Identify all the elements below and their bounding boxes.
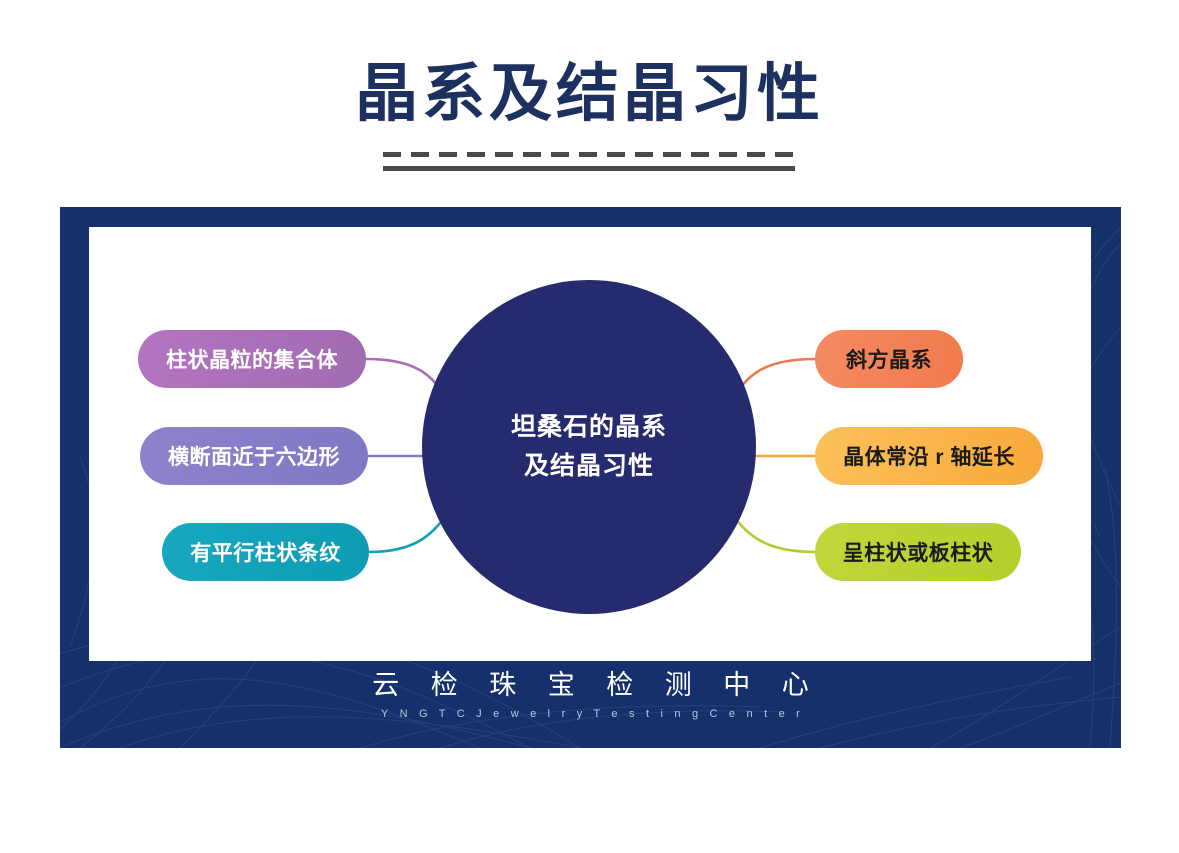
footer-name-en: Y N G T C J e w e l r y T e s t i n g C … [60, 706, 1121, 724]
center-node-label: 坦桑石的晶系 及结晶习性 [511, 408, 667, 486]
branch-node-left-1[interactable]: 柱状晶粒的集合体 [138, 330, 366, 388]
branch-node-label: 横断面近于六边形 [168, 441, 340, 471]
title-block: 晶系及结晶习性 [0, 60, 1179, 129]
branch-node-label: 柱状晶粒的集合体 [166, 344, 338, 374]
content-frame: 坦桑石的晶系 及结晶习性 柱状晶粒的集合体 横断面近于六边形 有平行柱状条纹 斜… [60, 207, 1121, 748]
solid-rule [383, 166, 795, 171]
branch-node-left-2[interactable]: 横断面近于六边形 [140, 427, 368, 485]
slide-root: 晶系及结晶习性 [0, 0, 1179, 853]
branch-node-label: 有平行柱状条纹 [190, 537, 341, 567]
branch-node-label: 斜方晶系 [846, 344, 932, 374]
branch-node-right-2[interactable]: 晶体常沿 r 轴延长 [815, 427, 1043, 485]
branch-node-label: 晶体常沿 r 轴延长 [843, 441, 1015, 471]
mindmap: 坦桑石的晶系 及结晶习性 柱状晶粒的集合体 横断面近于六边形 有平行柱状条纹 斜… [89, 227, 1091, 661]
title-underline-group [383, 152, 795, 176]
branch-node-label: 呈柱状或板柱状 [843, 537, 994, 567]
page-title: 晶系及结晶习性 [0, 60, 1179, 129]
center-node: 坦桑石的晶系 及结晶习性 [422, 280, 756, 614]
branch-node-right-3[interactable]: 呈柱状或板柱状 [815, 523, 1021, 581]
footer-wordmark: 云 检 珠 宝 检 测 中 心 Y N G T C J e w e l r y … [60, 669, 1121, 723]
branch-node-right-1[interactable]: 斜方晶系 [815, 330, 963, 388]
footer-name-cn: 云 检 珠 宝 检 测 中 心 [60, 669, 1121, 703]
branch-node-left-3[interactable]: 有平行柱状条纹 [162, 523, 369, 581]
dashed-rule [383, 152, 795, 157]
diagram-canvas: 坦桑石的晶系 及结晶习性 柱状晶粒的集合体 横断面近于六边形 有平行柱状条纹 斜… [89, 227, 1091, 661]
